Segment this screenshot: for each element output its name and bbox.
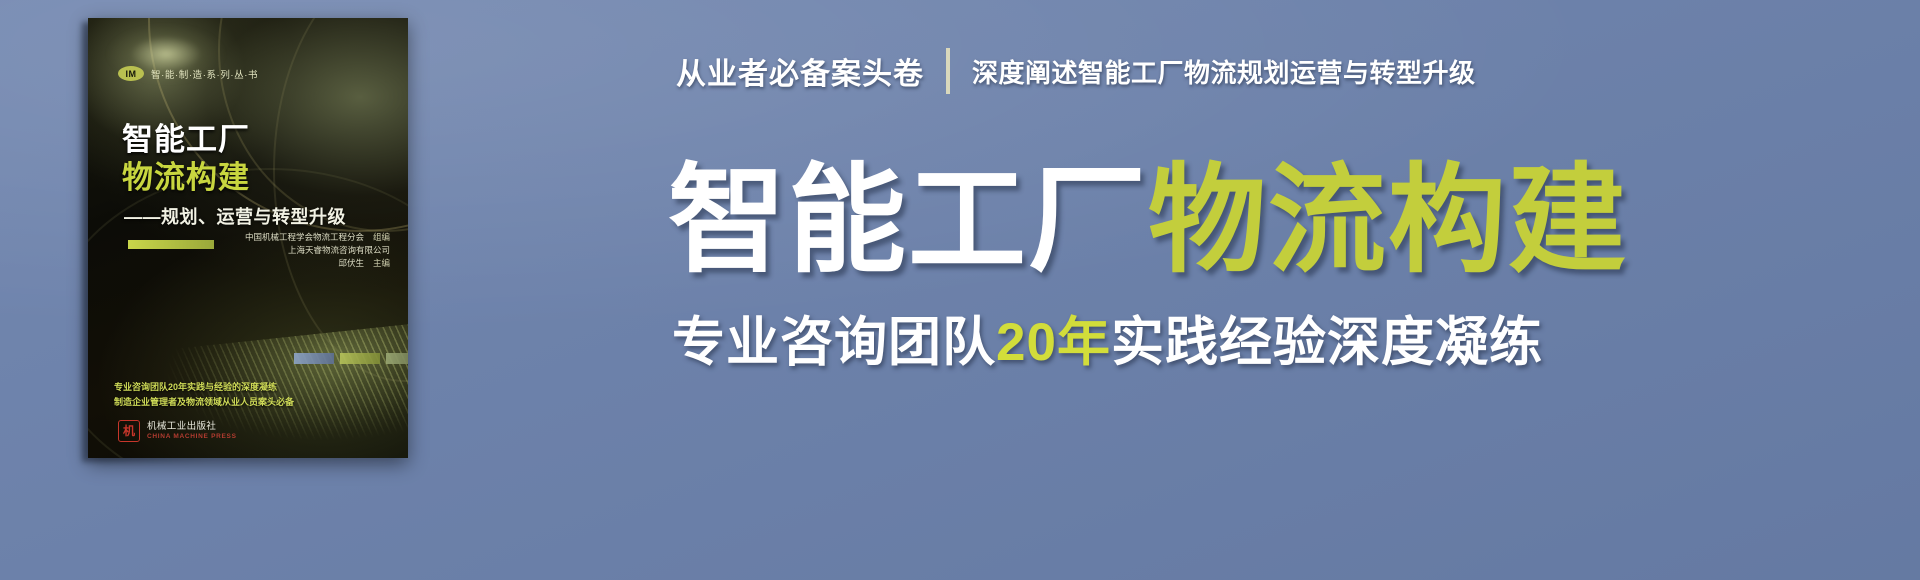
headline-accent: 物流构建 <box>1148 160 1628 284</box>
series-label: 智·能·制·造·系·列·丛·书 <box>151 67 258 81</box>
cover-selling-point-2: 制造企业管理者及物流领域从业人员案头必备 <box>114 395 294 410</box>
book-cover-front: IM 智·能·制·造·系·列·丛·书 智能工厂 物流构建 ——规划、运营与转型升… <box>88 18 408 458</box>
publisher-name-en: CHINA MACHINE PRESS <box>147 433 237 441</box>
cover-credit-bar <box>128 240 214 249</box>
cover-chip <box>386 353 408 364</box>
tagline-row: 从业者必备案头卷 深度阐述智能工厂物流规划运营与转型升级 <box>676 48 1476 94</box>
cover-series-line: IM 智·能·制·造·系·列·丛·书 <box>118 66 258 81</box>
subheadline-years: 20年 <box>996 300 1111 376</box>
publisher-name-cn: 机械工业出版社 <box>147 421 237 433</box>
credit-role: 组编 <box>373 231 390 244</box>
headline: 智能工厂 物流构建 <box>668 160 1628 284</box>
cover-title-line2: 物流构建 <box>122 161 250 194</box>
cover-chip <box>294 353 334 364</box>
credit-org: 中国机械工程学会物流工程分会 <box>245 231 364 244</box>
subheadline-part2: 实践经验深度凝练 <box>1111 300 1543 376</box>
tagline-right: 深度阐述智能工厂物流规划运营与转型升级 <box>972 53 1476 90</box>
series-badge-icon: IM <box>118 66 144 81</box>
cover-selling-point-1: 专业咨询团队20年实践与经验的深度凝练 <box>114 380 294 395</box>
cover-credits: 中国机械工程学会物流工程分会 组编 上海天睿物流咨询有限公司 邱伏生 主编 <box>220 231 390 271</box>
promo-banner: IM 智·能·制·造·系·列·丛·书 智能工厂 物流构建 ——规划、运营与转型升… <box>0 0 1920 580</box>
credit-row: 中国机械工程学会物流工程分会 组编 <box>220 231 390 244</box>
tagline-divider <box>946 48 950 94</box>
headline-primary: 智能工厂 <box>668 160 1148 284</box>
cover-selling-points: 专业咨询团队20年实践与经验的深度凝练 制造企业管理者及物流领域从业人员案头必备 <box>114 380 294 410</box>
credit-row: 上海天睿物流咨询有限公司 <box>220 244 390 257</box>
cover-title-line1: 智能工厂 <box>122 123 250 156</box>
publisher-mark-icon: 机 <box>118 420 140 442</box>
book-cover-image[interactable]: IM 智·能·制·造·系·列·丛·书 智能工厂 物流构建 ——规划、运营与转型升… <box>88 18 408 460</box>
credit-role: 主编 <box>373 257 390 270</box>
credit-org: 上海天睿物流咨询有限公司 <box>288 244 390 257</box>
subheadline-part1: 专业咨询团队 <box>672 300 996 376</box>
cover-chip <box>340 353 380 364</box>
credit-row: 邱伏生 主编 <box>220 257 390 270</box>
cover-subtitle: ——规划、运营与转型升级 <box>124 203 346 229</box>
tagline-left: 从业者必备案头卷 <box>676 49 924 93</box>
publisher-names: 机械工业出版社 CHINA MACHINE PRESS <box>147 421 237 441</box>
subheadline: 专业咨询团队 20年 实践经验深度凝练 <box>672 300 1543 376</box>
publisher-logo: 机 机械工业出版社 CHINA MACHINE PRESS <box>118 420 237 442</box>
credit-org: 邱伏生 <box>338 257 364 270</box>
cover-color-chips <box>294 353 408 364</box>
promo-text-block: 从业者必备案头卷 深度阐述智能工厂物流规划运营与转型升级 智能工厂 物流构建 专… <box>668 0 1898 580</box>
